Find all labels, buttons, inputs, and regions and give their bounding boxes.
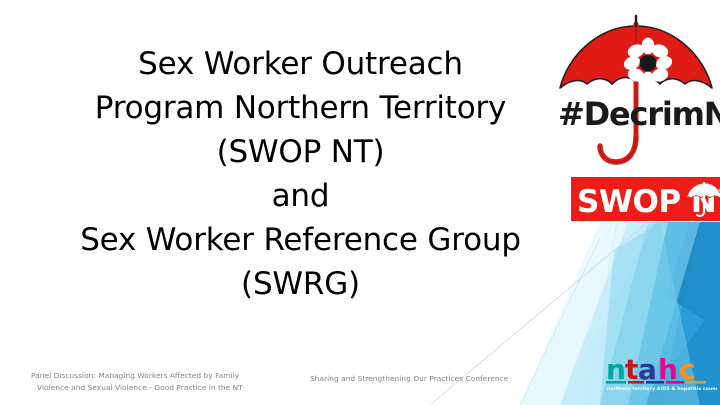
title-line-1: Sex Worker Outreach [38, 42, 563, 86]
title-line-4: and [38, 174, 563, 218]
ntahc-color-bar [606, 381, 706, 384]
footer-left-line-1: Panel Discussion: Managing Workers Affec… [31, 370, 271, 382]
decrim-hashtag-text: #DecrimNT [558, 95, 720, 133]
presentation-slide: Sex Worker Outreach Program Northern Ter… [0, 0, 720, 405]
footer-left-line-2: Violence and Sexual Violence - Good Prac… [31, 382, 271, 394]
title-line-2: Program Northern Territory [38, 86, 563, 130]
page-title: Sex Worker Outreach Program Northern Ter… [38, 42, 563, 306]
decrim-nt-umbrella-logo: #DecrimNT [552, 12, 720, 172]
title-line-3: (SWOP NT) [38, 130, 563, 174]
flower-center-icon [640, 55, 657, 72]
title-line-6: (SWRG) [38, 262, 563, 306]
footer-center-caption: Sharing and Strengthening Our Practices … [310, 373, 570, 385]
swop-nt-banner-logo: SWOP NT [571, 177, 720, 221]
ntahc-logo: n t a h c northern territory AIDS & hepa… [605, 352, 717, 392]
deco-shape-deep-1 [666, 222, 720, 330]
title-line-5: Sex Worker Reference Group [38, 218, 563, 262]
ntahc-tagline: northern territory AIDS & hepatitis coun… [607, 386, 717, 392]
footer-left-caption: Panel Discussion: Managing Workers Affec… [31, 370, 271, 393]
